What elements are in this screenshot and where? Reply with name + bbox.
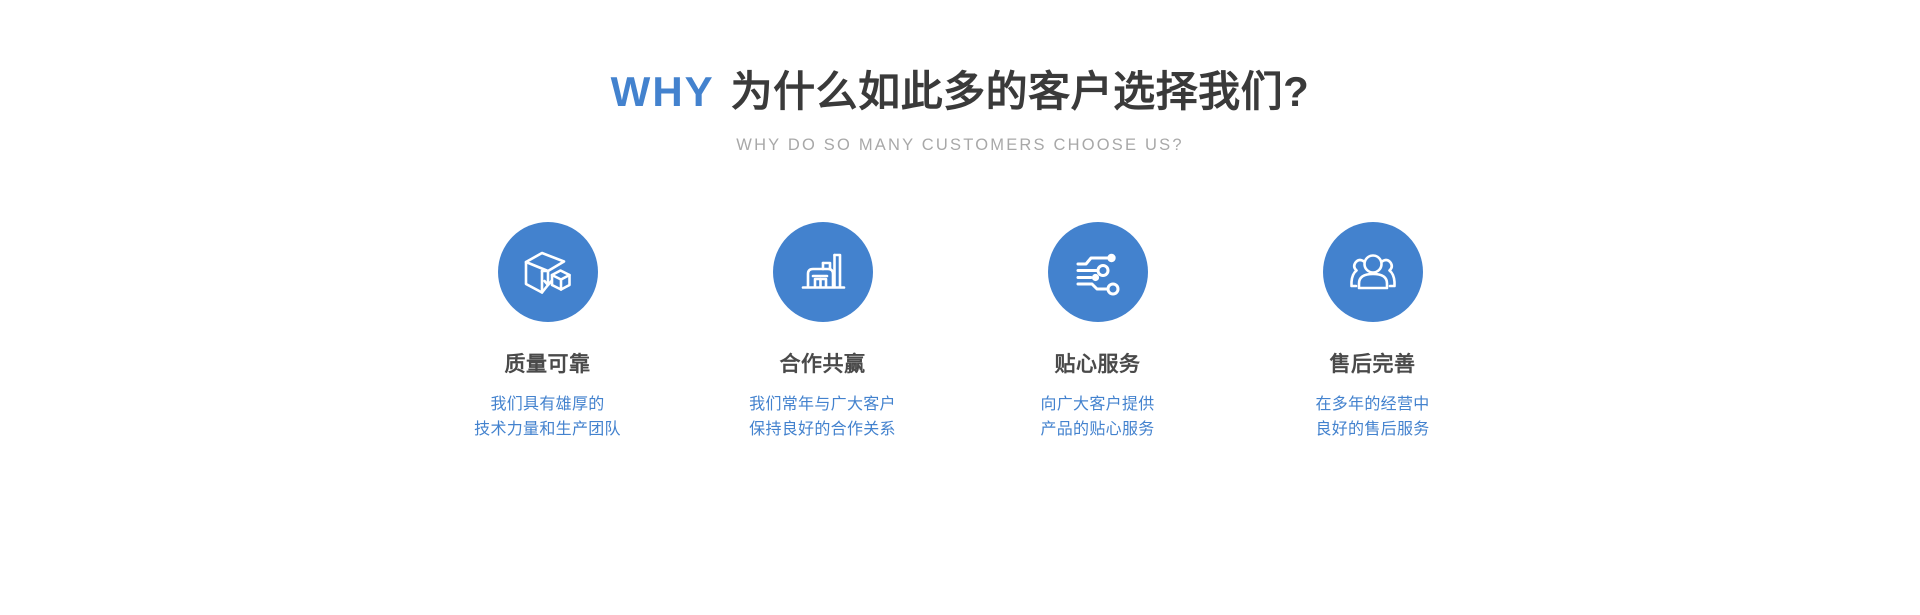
feature-icon-circle: [1048, 222, 1148, 322]
feature-desc-line-2: 保持良好的合作关系: [749, 418, 896, 443]
feature-desc-line-1: 向广大客户提供: [1040, 393, 1154, 418]
feature-title: 售后完善: [1330, 352, 1416, 377]
why-choose-us-section: WHY为什么如此多的客户选择我们? WHY DO SO MANY CUSTOME…: [0, 0, 1920, 615]
feature-description: 我们具有雄厚的 技术力量和生产团队: [474, 393, 621, 443]
feature-title: 合作共赢: [780, 352, 866, 377]
feature-item-aftersales[interactable]: 售后完善 在多年的经营中 良好的售后服务: [1235, 222, 1510, 443]
feature-description: 我们常年与广大客户 保持良好的合作关系: [749, 393, 896, 443]
feature-desc-line-1: 我们具有雄厚的: [474, 393, 621, 418]
feature-desc-line-2: 产品的贴心服务: [1040, 418, 1154, 443]
feature-icon-circle: [773, 222, 873, 322]
feature-desc-line-2: 良好的售后服务: [1315, 418, 1429, 443]
factory-icon: [795, 244, 851, 300]
title-chinese: 为什么如此多的客户选择我们?: [731, 68, 1310, 115]
feature-icon-circle: [1323, 222, 1423, 322]
heading-block: WHY为什么如此多的客户选择我们? WHY DO SO MANY CUSTOME…: [0, 68, 1920, 155]
feature-icon-circle: [498, 222, 598, 322]
feature-description: 在多年的经营中 良好的售后服务: [1315, 393, 1429, 443]
page-title: WHY为什么如此多的客户选择我们?: [0, 68, 1920, 116]
feature-desc-line-2: 技术力量和生产团队: [474, 418, 621, 443]
feature-item-service[interactable]: 贴心服务 向广大客户提供 产品的贴心服务: [960, 222, 1235, 443]
feature-description: 向广大客户提供 产品的贴心服务: [1040, 393, 1154, 443]
feature-item-quality[interactable]: 质量可靠 我们具有雄厚的 技术力量和生产团队: [410, 222, 685, 443]
circuit-network-icon: [1070, 244, 1126, 300]
feature-item-cooperation[interactable]: 合作共赢 我们常年与广大客户 保持良好的合作关系: [685, 222, 960, 443]
feature-desc-line-1: 在多年的经营中: [1315, 393, 1429, 418]
users-group-icon: [1345, 244, 1401, 300]
feature-desc-line-1: 我们常年与广大客户: [749, 393, 896, 418]
title-why-word: WHY: [611, 68, 715, 115]
page-subtitle: WHY DO SO MANY CUSTOMERS CHOOSE US?: [0, 136, 1920, 155]
package-box-icon: [520, 244, 576, 300]
feature-list: 质量可靠 我们具有雄厚的 技术力量和生产团队: [410, 222, 1510, 443]
feature-title: 贴心服务: [1055, 352, 1141, 377]
feature-title: 质量可靠: [505, 352, 591, 377]
